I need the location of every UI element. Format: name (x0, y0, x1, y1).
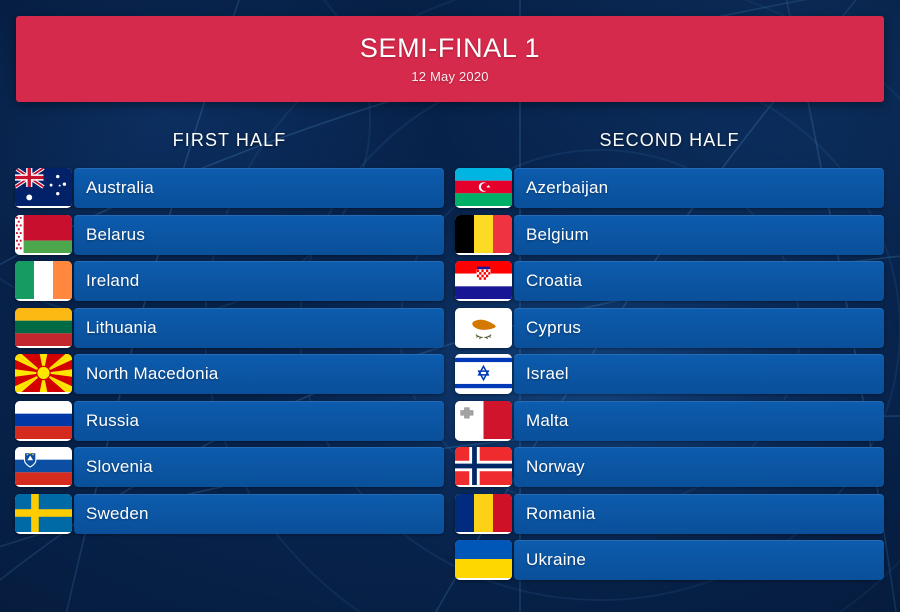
country-row[interactable]: North Macedonia (15, 354, 444, 394)
country-row[interactable]: Croatia (455, 261, 884, 301)
country-row[interactable]: Romania (455, 494, 884, 534)
country-name: Slovenia (74, 457, 153, 477)
flag-lithuania-icon (15, 308, 72, 348)
country-row[interactable]: Ireland (15, 261, 444, 301)
country-list-first-half: Australia Belarus Ireland Lithuania (15, 168, 444, 534)
country-name-bar[interactable]: Slovenia (74, 447, 444, 487)
flag-belgium-icon (455, 215, 512, 255)
country-row[interactable]: Israel (455, 354, 884, 394)
country-name-bar[interactable]: Australia (74, 168, 444, 208)
country-name: Russia (74, 411, 139, 431)
country-name: Ireland (74, 271, 139, 291)
column-first-half: FIRST HALF Australia (15, 112, 444, 540)
country-name: North Macedonia (74, 364, 218, 384)
country-row[interactable]: Belarus (15, 215, 444, 255)
country-row[interactable]: Ukraine (455, 540, 884, 580)
country-name-bar[interactable]: Israel (514, 354, 884, 394)
country-name: Belarus (74, 225, 145, 245)
flag-ukraine-icon (455, 540, 512, 580)
country-row[interactable]: Slovenia (15, 447, 444, 487)
country-name-bar[interactable]: Lithuania (74, 308, 444, 348)
country-name-bar[interactable]: Russia (74, 401, 444, 441)
flag-slovenia-icon (15, 447, 72, 487)
country-name: Lithuania (74, 318, 157, 338)
country-name: Malta (514, 411, 569, 431)
country-row[interactable]: Malta (455, 401, 884, 441)
country-name: Azerbaijan (514, 178, 608, 198)
country-name-bar[interactable]: Ireland (74, 261, 444, 301)
country-name-bar[interactable]: Belarus (74, 215, 444, 255)
flag-norway-icon (455, 447, 512, 487)
country-name-bar[interactable]: Cyprus (514, 308, 884, 348)
country-name-bar[interactable]: Malta (514, 401, 884, 441)
show-date: 12 May 2020 (411, 69, 488, 84)
country-row[interactable]: Belgium (455, 215, 884, 255)
semifinal-running-order-screen: SEMI-FINAL 1 12 May 2020 FIRST HALF Aust… (0, 0, 900, 612)
flag-ireland-icon (15, 261, 72, 301)
flag-romania-icon (455, 494, 512, 534)
country-name-bar[interactable]: Ukraine (514, 540, 884, 580)
flag-north-macedonia-icon (15, 354, 72, 394)
flag-croatia-icon (455, 261, 512, 301)
country-name-bar[interactable]: Croatia (514, 261, 884, 301)
country-row[interactable]: Sweden (15, 494, 444, 534)
country-row[interactable]: Russia (15, 401, 444, 441)
country-name: Israel (514, 364, 569, 384)
flag-israel-icon (455, 354, 512, 394)
country-name: Norway (514, 457, 585, 477)
country-name-bar[interactable]: North Macedonia (74, 354, 444, 394)
country-name: Australia (74, 178, 154, 198)
flag-malta-icon (455, 401, 512, 441)
country-name: Belgium (514, 225, 589, 245)
country-row[interactable]: Australia (15, 168, 444, 208)
country-name-bar[interactable]: Azerbaijan (514, 168, 884, 208)
country-name: Romania (514, 504, 595, 524)
column-heading-second-half: SECOND HALF (455, 112, 884, 168)
country-row[interactable]: Cyprus (455, 308, 884, 348)
flag-australia-icon (15, 168, 72, 208)
country-name: Sweden (74, 504, 149, 524)
flag-russia-icon (15, 401, 72, 441)
page-title: SEMI-FINAL 1 (360, 34, 540, 62)
country-name-bar[interactable]: Belgium (514, 215, 884, 255)
column-second-half: SECOND HALF Azerbaijan Belgium (455, 112, 884, 587)
country-row[interactable]: Azerbaijan (455, 168, 884, 208)
flag-sweden-icon (15, 494, 72, 534)
country-name-bar[interactable]: Romania (514, 494, 884, 534)
country-list-second-half: Azerbaijan Belgium Croatia (455, 168, 884, 580)
column-heading-first-half: FIRST HALF (15, 112, 444, 168)
show-banner: SEMI-FINAL 1 12 May 2020 (16, 16, 884, 102)
country-name: Cyprus (514, 318, 581, 338)
flag-azerbaijan-icon (455, 168, 512, 208)
country-row[interactable]: Norway (455, 447, 884, 487)
country-row[interactable]: Lithuania (15, 308, 444, 348)
country-name-bar[interactable]: Norway (514, 447, 884, 487)
country-name: Ukraine (514, 550, 586, 570)
flag-belarus-icon (15, 215, 72, 255)
flag-cyprus-icon (455, 308, 512, 348)
country-name: Croatia (514, 271, 582, 291)
country-name-bar[interactable]: Sweden (74, 494, 444, 534)
